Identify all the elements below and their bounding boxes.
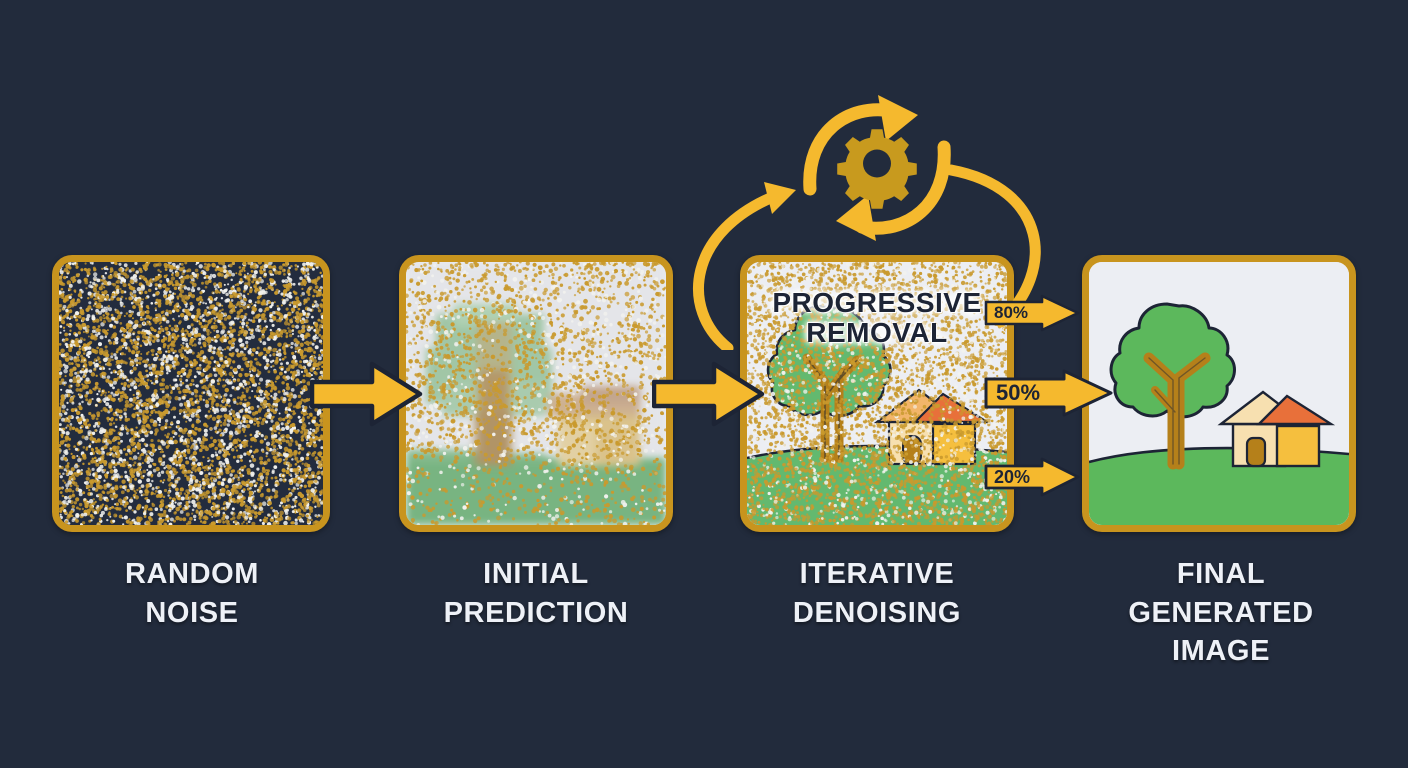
caption-line: PREDICTION [375,594,697,633]
badge-label-50: 50% [996,380,1040,406]
final-scene-wrap [1089,262,1349,525]
caption-line: IMAGE [1060,632,1382,671]
caption-line: NOISE [32,594,352,633]
caption-line: FINAL [1060,555,1382,594]
caption-random-noise: RANDOM NOISE [32,555,352,632]
badge-label-20: 20% [994,467,1030,488]
panel-random-noise [52,255,330,532]
noise-speckles-medium [406,262,666,525]
panel-iterative-denoising: PROGRESSIVE REMOVAL [740,255,1014,532]
loop-arrowhead-bottom [836,195,876,241]
iteration-loop-icon [786,93,968,243]
badge-noise-80: 80% [984,294,1080,332]
caption-line: RANDOM [32,555,352,594]
caption-line: ITERATIVE [716,555,1038,594]
caption-initial-prediction: INITIAL PREDICTION [375,555,697,632]
overlay-line-1: PROGRESSIVE [747,288,1007,318]
badge-noise-20: 20% [984,457,1080,497]
badge-noise-50: 50% [984,368,1114,418]
badge-label-80: 80% [994,303,1028,323]
noise-field-dark [59,262,323,525]
flow-arrow-2 [652,358,766,430]
caption-line: GENERATED [1060,594,1382,633]
loop-arrowhead-top [878,95,918,141]
initial-scene-wrap [406,262,666,525]
flow-arrow-1 [310,358,424,430]
diagram-canvas: PROGRESSIVE REMOVAL [0,0,1408,768]
caption-final-generated-image: FINAL GENERATED IMAGE [1060,555,1382,671]
caption-iterative-denoising: ITERATIVE DENOISING [716,555,1038,632]
overlay-line-2: REMOVAL [747,318,1007,348]
gear-icon [837,129,917,209]
panel-initial-prediction [399,255,673,532]
random-noise-speckles [59,262,323,525]
clean-landscape-illustration [1089,262,1349,525]
progressive-removal-overlay: PROGRESSIVE REMOVAL [747,288,1007,348]
panel-final-generated-image [1082,255,1356,532]
caption-line: DENOISING [716,594,1038,633]
caption-line: INITIAL [375,555,697,594]
